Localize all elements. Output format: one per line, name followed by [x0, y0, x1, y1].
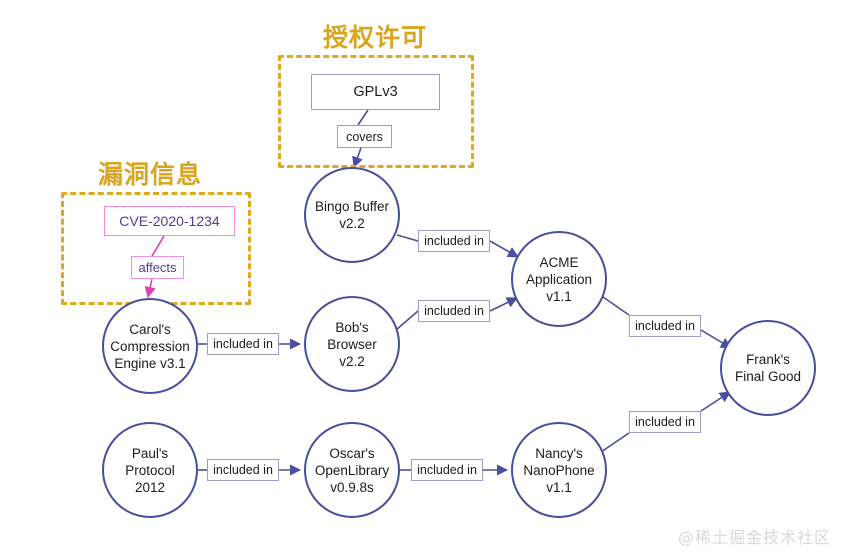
edge-label-included-in-6[interactable]: included in	[207, 459, 279, 481]
edge-bob-acme-left	[396, 311, 418, 330]
node-gplv3-license-label: GPLv3	[353, 84, 397, 100]
node-acme-application[interactable]: ACME Application v1.1	[511, 231, 607, 327]
edge-label-included-in-4-text: included in	[635, 319, 695, 333]
edge-label-included-in-5[interactable]: included in	[629, 411, 701, 433]
node-oscars-openlibrary[interactable]: Oscar's OpenLibrary v0.9.8s	[304, 422, 400, 518]
edge-label-included-in-1-text: included in	[424, 234, 484, 248]
edge-label-included-in-3-text: included in	[213, 337, 273, 351]
node-acme-application-label: ACME Application v1.1	[522, 254, 596, 305]
watermark: @稀土掘金技术社区	[678, 524, 831, 548]
node-nancys-nanophone[interactable]: Nancy's NanoPhone v1.1	[511, 422, 607, 518]
node-carols-compression-engine[interactable]: Carol's Compression Engine v3.1	[102, 298, 198, 394]
edge-label-covers[interactable]: covers	[337, 125, 392, 148]
group-title-vulnerability: 漏洞信息	[98, 155, 202, 191]
edge-label-included-in-3[interactable]: included in	[207, 333, 279, 355]
edge-label-affects[interactable]: affects	[131, 256, 184, 279]
node-bobs-browser[interactable]: Bob's Browser v2.2	[304, 296, 400, 392]
node-oscars-openlibrary-label: Oscar's OpenLibrary v0.9.8s	[311, 445, 393, 496]
node-franks-final-good[interactable]: Frank's Final Good	[720, 320, 816, 416]
group-title-license: 授权许可	[323, 18, 427, 54]
diagram-canvas: 授权许可 漏洞信息 GPLv3 CVE-2020-1234 Bingo Buff…	[0, 0, 861, 556]
edge-label-included-in-2-text: included in	[424, 304, 484, 318]
edge-label-included-in-7-text: included in	[417, 463, 477, 477]
node-bingo-buffer-label: Bingo Buffer v2.2	[311, 198, 393, 232]
edge-bingo-acme-left	[397, 235, 418, 241]
edge-label-included-in-7[interactable]: included in	[411, 459, 483, 481]
node-bingo-buffer[interactable]: Bingo Buffer v2.2	[304, 167, 400, 263]
node-pauls-protocol[interactable]: Paul's Protocol 2012	[102, 422, 198, 518]
edge-label-included-in-2[interactable]: included in	[418, 300, 490, 322]
edge-nancy-frank-left	[601, 433, 629, 452]
edge-bingo-acme-right	[490, 241, 518, 257]
edge-label-included-in-4[interactable]: included in	[629, 315, 701, 337]
node-franks-final-good-label: Frank's Final Good	[731, 351, 805, 385]
node-nancys-nanophone-label: Nancy's NanoPhone v1.1	[519, 445, 598, 496]
node-bobs-browser-label: Bob's Browser v2.2	[323, 319, 381, 370]
node-gplv3-license[interactable]: GPLv3	[311, 74, 440, 110]
edge-label-included-in-5-text: included in	[635, 415, 695, 429]
group-box-license	[278, 55, 474, 168]
edge-label-included-in-6-text: included in	[213, 463, 273, 477]
edge-label-affects-text: affects	[138, 260, 176, 275]
edge-label-included-in-1[interactable]: included in	[418, 230, 490, 252]
edge-acme-frank-left	[603, 297, 629, 315]
edge-label-covers-text: covers	[346, 130, 383, 144]
node-cve-record[interactable]: CVE-2020-1234	[104, 206, 235, 236]
edge-nancy-frank-right	[701, 392, 730, 411]
node-pauls-protocol-label: Paul's Protocol 2012	[121, 445, 179, 496]
node-cve-record-label: CVE-2020-1234	[119, 213, 219, 229]
node-carols-compression-engine-label: Carol's Compression Engine v3.1	[106, 321, 194, 372]
edge-bob-acme-right	[490, 298, 517, 311]
